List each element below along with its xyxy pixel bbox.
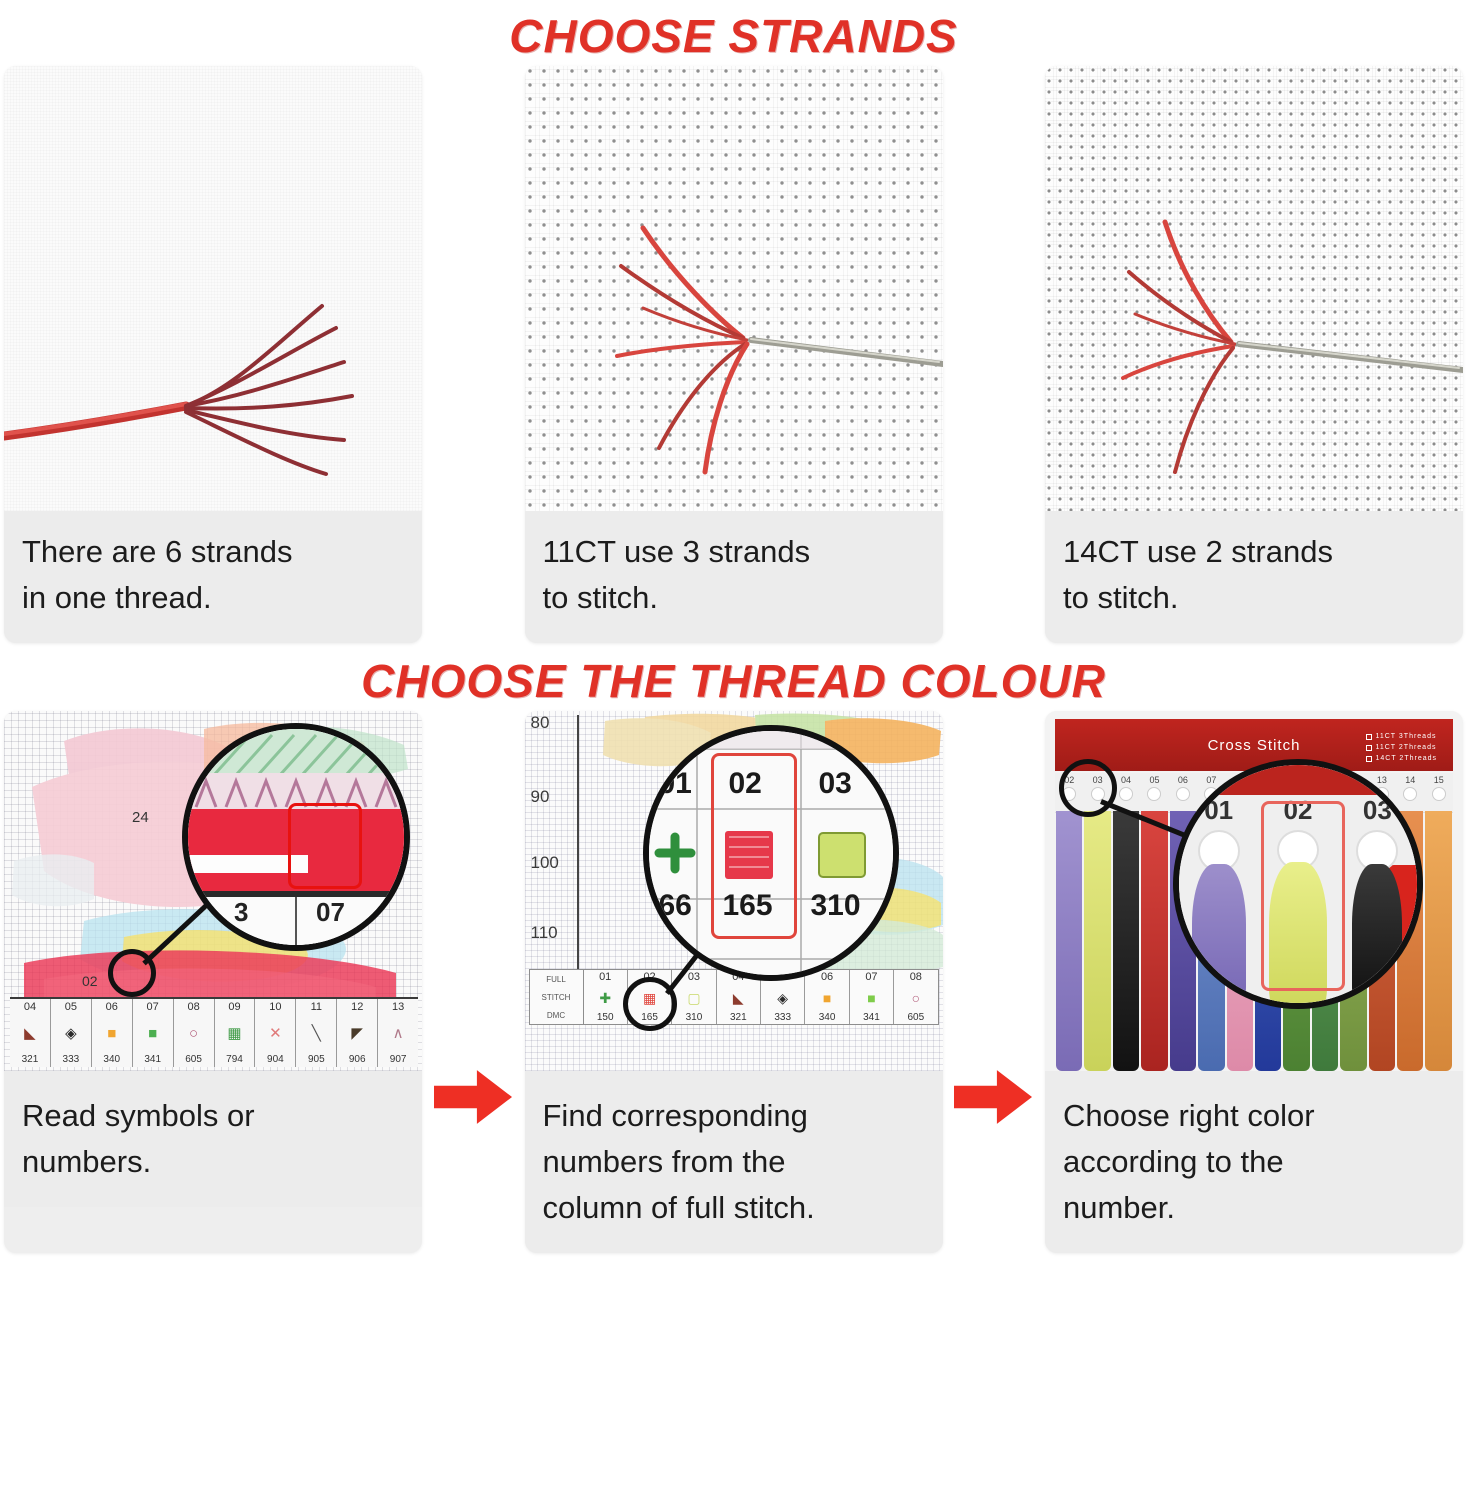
axis-label: 100 <box>531 853 559 873</box>
thread-colour-card-row: 24 02 <box>0 711 1467 1253</box>
thread-skein <box>1113 811 1139 1071</box>
key-header-line-1: FULL <box>546 975 566 984</box>
legend-symbol: ○ <box>189 1026 198 1041</box>
thread-skein <box>1192 864 1246 1009</box>
thread-skein <box>1056 811 1082 1071</box>
magnifier-highlight-box <box>1261 801 1345 991</box>
legend-code: 321 <box>22 1054 39 1065</box>
legend-code: 605 <box>185 1054 202 1065</box>
magnified-thread-slot: 01 <box>1179 795 1258 1009</box>
key-code: 333 <box>774 1012 791 1023</box>
legend-symbol: ◈ <box>65 1026 77 1041</box>
legend-cell: 10✕904 <box>255 999 296 1067</box>
legend-symbol: ◤ <box>351 1026 363 1041</box>
key-number: 01 <box>599 971 611 983</box>
key-symbol: ■ <box>867 991 875 1005</box>
14ct-aida-needle-photo <box>1045 66 1463 511</box>
caption-find-numbers: Find corresponding numbers from the colu… <box>525 1071 943 1253</box>
legend-number: 08 <box>187 1001 199 1013</box>
11ct-aida-needle-photo <box>525 66 943 511</box>
legend-number: 05 <box>65 1001 77 1013</box>
caption-line-2: to stitch. <box>1063 575 1445 621</box>
pattern-marker-02: 02 <box>82 973 98 989</box>
caption-line-2: numbers. <box>22 1139 404 1185</box>
caption-line-1: There are 6 strands <box>22 529 404 575</box>
thread-organiser-card: Cross Stitch 11CT 3Threads 11CT 2Threads… <box>1045 711 1463 1071</box>
legend-cell: 08○605 <box>174 999 215 1067</box>
key-symbol: ■ <box>823 991 831 1005</box>
legend-cell: 07■341 <box>133 999 174 1067</box>
magnified-slot-number: 03 <box>1363 795 1392 826</box>
instruction-sheet: CHOOSE STRANDS <box>0 0 1467 1500</box>
legend-cell: 12◤906 <box>337 999 378 1067</box>
legend-number: 07 <box>147 1001 159 1013</box>
key-number: 08 <box>910 971 922 983</box>
thread-card-magnified-photo: Cross Stitch 11CT 3Threads 11CT 2Threads… <box>1045 711 1463 1071</box>
thread-slot: 05 <box>1140 773 1168 812</box>
axis-label: 90 <box>531 787 550 807</box>
legend-symbol: ▦ <box>227 1026 241 1041</box>
magnifier-circle: 01 02 03 <box>1173 759 1423 1009</box>
caption-line-1: Read symbols or <box>22 1093 404 1139</box>
magnifier-source-circle <box>1059 759 1117 817</box>
checkbox-icon[interactable] <box>1366 756 1372 762</box>
caption-line-1: 11CT use 3 strands <box>543 529 925 575</box>
axis-label: 110 <box>531 923 558 943</box>
checkbox-icon[interactable] <box>1366 734 1372 740</box>
magnified-key-code: 310 <box>811 889 861 923</box>
key-symbol: ▢ <box>687 991 700 1005</box>
key-code: 310 <box>686 1012 703 1023</box>
legend-code: 341 <box>144 1054 161 1065</box>
magnified-key-number: 03 <box>819 767 852 801</box>
card-choose-color: Cross Stitch 11CT 3Threads 11CT 2Threads… <box>1045 711 1463 1253</box>
thread-option: 11CT 2Threads <box>1366 742 1437 753</box>
key-symbol: ◣ <box>733 991 744 1005</box>
caption-14ct: 14CT use 2 strands to stitch. <box>1045 511 1463 643</box>
thread-option-label: 11CT 2Threads <box>1375 742 1436 753</box>
key-cell: 01✚150 <box>584 970 628 1024</box>
chart-vertical-axis <box>577 715 579 999</box>
legend-cell: 09▦794 <box>215 999 256 1067</box>
thread-card-options: 11CT 3Threads 11CT 2Threads 14CT 2Thread… <box>1366 731 1437 764</box>
legend-number: 13 <box>392 1001 404 1013</box>
caption-choose-color: Choose right color according to the numb… <box>1045 1071 1463 1253</box>
legend-cell: 04◣321 <box>10 999 51 1067</box>
pattern-chart-magnified-photo: 24 02 <box>4 711 422 1071</box>
key-code: 341 <box>863 1012 880 1023</box>
thread-skein <box>1084 811 1110 1071</box>
thread-hole-icon <box>1432 787 1446 801</box>
legend-symbol: ◣ <box>24 1026 36 1041</box>
card-11ct: 11CT use 3 strands to stitch. <box>525 66 943 643</box>
legend-code: 333 <box>63 1054 80 1065</box>
caption-line-1: 14CT use 2 strands <box>1063 529 1445 575</box>
thread-skein <box>1425 811 1451 1071</box>
caption-line-2: according to the <box>1063 1139 1445 1185</box>
magnified-key-number: 01 <box>659 767 692 801</box>
caption-line-3: number. <box>1063 1185 1445 1231</box>
key-cell: 06■340 <box>805 970 849 1024</box>
thread-card-title: Cross Stitch <box>1208 737 1301 754</box>
key-header-line-3: DMC <box>547 1011 565 1020</box>
legend-symbol: ✕ <box>269 1026 282 1041</box>
key-code: 340 <box>819 1012 836 1023</box>
right-arrow-icon-1 <box>428 1062 518 1132</box>
key-code: 605 <box>907 1012 924 1023</box>
thread-hole-icon <box>1147 787 1161 801</box>
legend-symbol: ■ <box>107 1026 116 1041</box>
magnifier-circle: 01 02 03 66 165 310 <box>643 725 899 981</box>
strands-card-row: There are 6 strands in one thread. <box>0 66 1467 643</box>
thread-option: 14CT 2Threads <box>1366 753 1437 764</box>
page-title-choose-strands: CHOOSE STRANDS <box>0 0 1467 66</box>
right-arrow-icon-2 <box>948 1062 1038 1132</box>
magnifier-number-left: 3 <box>234 897 248 928</box>
key-code: 321 <box>730 1012 747 1023</box>
key-cell: 08○605 <box>894 970 937 1024</box>
checkbox-icon[interactable] <box>1366 745 1372 751</box>
magnifier-source-circle <box>108 949 156 997</box>
caption-line-2: numbers from the <box>543 1139 925 1185</box>
key-cell: 07■341 <box>850 970 894 1024</box>
caption-line-2: in one thread. <box>22 575 404 621</box>
legend-number: 11 <box>311 1001 322 1013</box>
caption-line-1: Choose right color <box>1063 1093 1445 1139</box>
magnified-key-code: 66 <box>659 889 692 923</box>
key-code: 150 <box>597 1012 614 1023</box>
key-header-cell: FULL STITCH DMC <box>530 970 584 1024</box>
legend-symbol: ■ <box>148 1026 157 1041</box>
legend-cell: 06■340 <box>92 999 133 1067</box>
legend-code: 907 <box>390 1054 407 1065</box>
thread-slot: 15 <box>1424 773 1452 812</box>
stitch-key-magnified-photo: 80 90 100 110 <box>525 711 943 1071</box>
legend-number: 10 <box>269 1001 281 1013</box>
magnifier-source-circle <box>623 977 677 1031</box>
card-14ct: 14CT use 2 strands to stitch. <box>1045 66 1463 643</box>
legend-code: 904 <box>267 1054 284 1065</box>
caption-read-symbols: Read symbols or numbers. <box>4 1071 422 1207</box>
legend-symbol: ∧ <box>393 1026 404 1041</box>
six-strand-thread-photo <box>4 66 422 511</box>
magnifier-number-right: 07 <box>316 897 345 928</box>
magnified-card-header-band <box>1179 765 1417 795</box>
caption-line-3: column of full stitch. <box>543 1185 925 1231</box>
pattern-legend-strip: 04◣321 05◈333 06■340 07■341 08○605 09▦79… <box>10 997 418 1067</box>
card-six-strands: There are 6 strands in one thread. <box>4 66 422 643</box>
thread-skein <box>1141 811 1167 1071</box>
legend-code: 906 <box>349 1054 366 1065</box>
magnifier-highlight-box <box>711 753 797 939</box>
caption-six-strands: There are 6 strands in one thread. <box>4 511 422 643</box>
card-find-numbers: 80 90 100 110 <box>525 711 943 1253</box>
axis-label: 80 <box>531 713 550 733</box>
thread-option-label: 11CT 3Threads <box>1375 731 1436 742</box>
legend-number: 06 <box>106 1001 118 1013</box>
key-header-line-2: STITCH <box>542 993 571 1002</box>
thread-card-header: Cross Stitch 11CT 3Threads 11CT 2Threads… <box>1055 719 1453 771</box>
legend-symbol: ╲ <box>312 1026 321 1041</box>
legend-code: 905 <box>308 1054 325 1065</box>
thread-skein <box>1352 864 1402 1009</box>
magnifier-circle: 3 07 <box>182 723 410 951</box>
pattern-grid-marker-24: 24 <box>132 809 149 826</box>
key-symbol: ◈ <box>777 991 788 1005</box>
legend-code: 340 <box>103 1054 120 1065</box>
legend-cell: 13∧907 <box>378 999 418 1067</box>
thread-option-label: 14CT 2Threads <box>1375 753 1437 764</box>
legend-cell: 05◈333 <box>51 999 92 1067</box>
thread-option: 11CT 3Threads <box>1366 731 1437 742</box>
legend-number: 09 <box>228 1001 240 1013</box>
magnified-thread-slot: 03 <box>1338 795 1417 1009</box>
legend-number: 04 <box>24 1001 36 1013</box>
thread-hole-icon <box>1119 787 1133 801</box>
card-read-symbols: 24 02 <box>4 711 422 1253</box>
legend-number: 12 <box>351 1001 363 1013</box>
page-title-choose-thread-colour: CHOOSE THE THREAD COLOUR <box>0 643 1467 711</box>
thread-slot-number: 04 <box>1121 775 1131 785</box>
magnified-slot-number: 01 <box>1204 795 1233 826</box>
caption-11ct: 11CT use 3 strands to stitch. <box>525 511 943 643</box>
thread-slot-number: 15 <box>1434 775 1444 785</box>
legend-cell: 11╲905 <box>296 999 337 1067</box>
legend-code: 794 <box>226 1054 243 1065</box>
caption-line-1: Find corresponding <box>543 1093 925 1139</box>
key-symbol: ✚ <box>599 991 611 1005</box>
magnifier-highlight-box <box>288 803 362 889</box>
key-symbol: ○ <box>912 991 920 1005</box>
caption-line-2: to stitch. <box>543 575 925 621</box>
stitch-key-strip: FULL STITCH DMC 01✚150 02▦165 03▢310 04◣… <box>529 969 939 1025</box>
thread-slot-number: 05 <box>1149 775 1159 785</box>
